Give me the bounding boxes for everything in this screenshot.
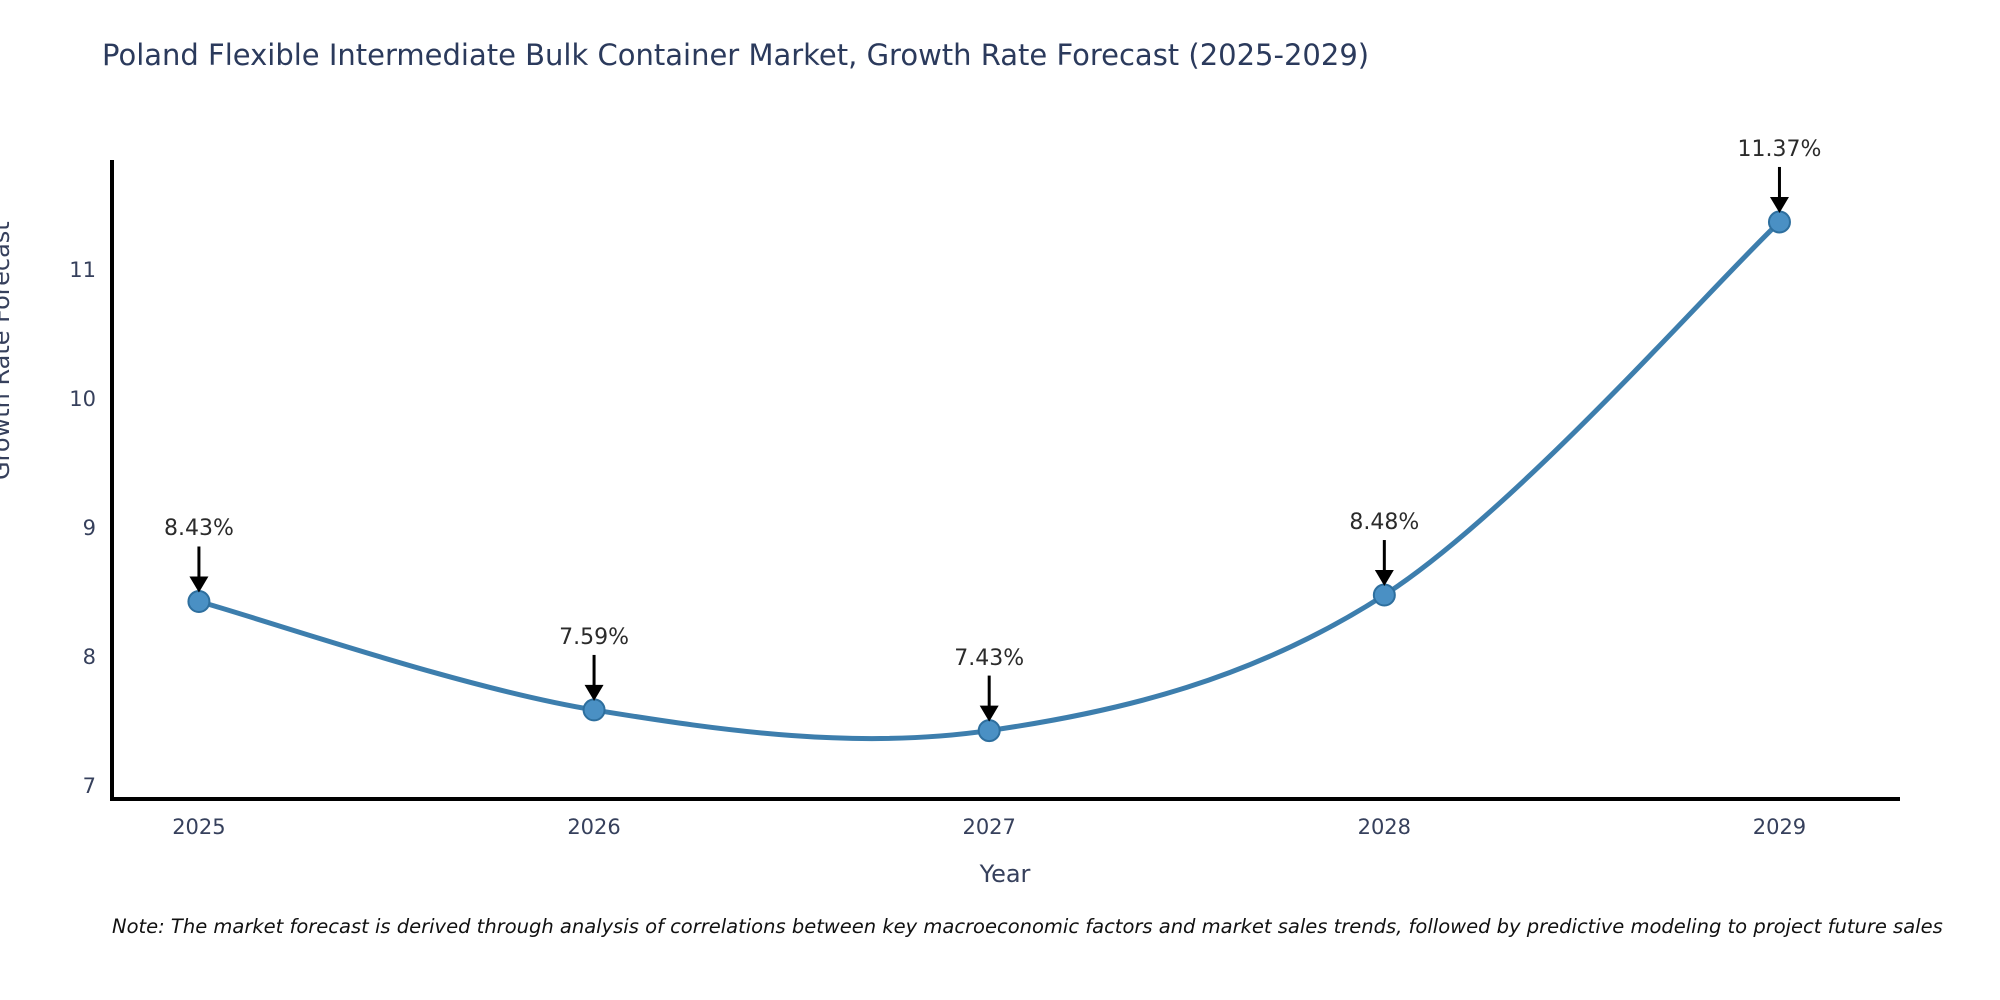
x-axis-label: Year <box>980 860 1031 888</box>
x-axis-spine <box>110 797 1900 801</box>
annotation-arrow-head <box>585 685 604 701</box>
x-tick-label: 2027 <box>962 815 1015 839</box>
chart-plot-svg <box>0 0 2000 1000</box>
chart-title: Poland Flexible Intermediate Bulk Contai… <box>102 38 1369 72</box>
data-point-marker[interactable] <box>1769 211 1790 232</box>
annotation-arrow-head <box>1770 197 1789 213</box>
data-point-marker[interactable] <box>584 699 605 720</box>
data-point-label: 8.48% <box>1349 510 1419 535</box>
data-point-marker[interactable] <box>1374 585 1395 606</box>
x-tick-label: 2025 <box>172 815 225 839</box>
y-axis-label: Growth Rate Forecast <box>0 221 15 480</box>
x-tick: 2026 <box>567 815 620 839</box>
x-tick: 2029 <box>1753 815 1806 839</box>
y-tick-label: 10 <box>69 387 96 411</box>
data-point-label: 7.43% <box>954 646 1024 671</box>
annotation-arrow-head <box>1375 570 1394 586</box>
y-axis-spine <box>110 160 114 801</box>
annotation-arrow-head <box>980 706 999 722</box>
annotation-arrows <box>189 167 1789 722</box>
data-point-label: 11.37% <box>1738 137 1822 162</box>
x-tick-label: 2026 <box>567 815 620 839</box>
x-tick: 2028 <box>1358 815 1411 839</box>
data-point-marker[interactable] <box>188 591 209 612</box>
x-tick: 2025 <box>172 815 225 839</box>
data-point-label: 7.59% <box>559 625 629 650</box>
x-tick-label: 2028 <box>1358 815 1411 839</box>
y-tick-label: 11 <box>69 258 96 282</box>
y-tick-label: 9 <box>83 516 96 540</box>
data-point-label: 8.43% <box>164 516 234 541</box>
annotation-arrow-head <box>189 576 208 592</box>
footnote: Note: The market forecast is derived thr… <box>112 915 1943 938</box>
data-point-marker[interactable] <box>979 720 1000 741</box>
y-tick-label: 8 <box>83 645 96 669</box>
x-tick-label: 2029 <box>1753 815 1806 839</box>
chart-figure: Poland Flexible Intermediate Bulk Contai… <box>0 0 2000 1000</box>
y-tick-label: 7 <box>83 774 96 798</box>
x-tick: 2027 <box>962 815 1015 839</box>
